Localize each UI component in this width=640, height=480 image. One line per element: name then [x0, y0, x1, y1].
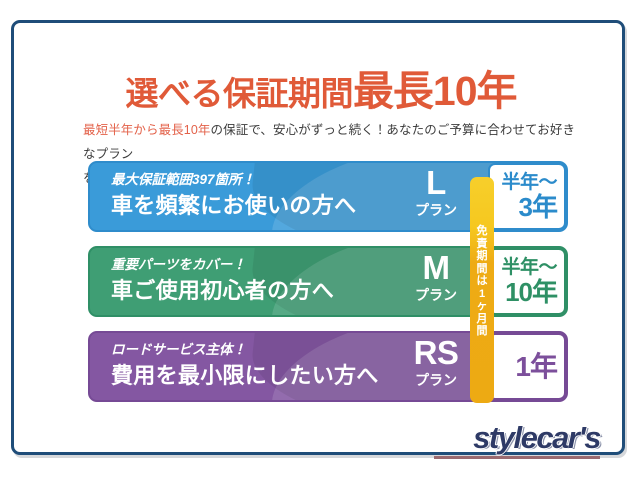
brand-logo-text: stylecar's — [430, 421, 600, 455]
plan-term-badge-rs: 1年 — [488, 333, 566, 400]
plan-headline-m: 車ご使用初心者の方へ — [111, 275, 334, 306]
page-title-part2: 最長10年 — [353, 68, 517, 114]
plan-tagline-l: 最大保証範囲397箇所！ — [111, 170, 356, 189]
plan-headline-l: 車を頻繁にお使いの方へ — [111, 190, 356, 221]
lead-highlight: 最短半年から最長10年 — [83, 123, 211, 137]
plan-suffix-l: プラン — [390, 201, 482, 219]
plan-copy-rs: ロードサービス主体！ 費用を最小限にしたい方へ — [111, 340, 379, 391]
plan-mark-m: M プラン — [390, 251, 482, 304]
brand-logo-underline — [434, 456, 600, 459]
deductible-char: 月 — [470, 313, 494, 326]
plan-term-line1-l: 半年〜 — [501, 172, 557, 194]
plan-tagline-m: 重要パーツをカバー！ — [111, 255, 334, 274]
deductible-char: は — [470, 275, 494, 288]
brand-logo: stylecar's — [430, 421, 600, 459]
deductible-char: 免 — [470, 225, 494, 238]
deductible-char: ヶ — [470, 300, 494, 313]
page-title: 選べる保証期間最長10年 — [14, 71, 628, 114]
plan-suffix-m: プラン — [390, 286, 482, 304]
deductible-char: 間 — [470, 263, 494, 276]
plan-term-line2-m: 10年 — [505, 279, 557, 306]
plan-row-l[interactable]: 最大保証範囲397箇所！ 車を頻繁にお使いの方へ L プラン 半年〜 3年 — [88, 161, 568, 232]
deductible-period-bar: 免責期間は1ヶ月間 — [470, 177, 494, 403]
plan-letter-m: M — [390, 251, 482, 284]
plan-term-line2-rs: 1年 — [515, 352, 557, 382]
deductible-char: 間 — [470, 325, 494, 338]
plan-list: 最大保証範囲397箇所！ 車を頻繁にお使いの方へ L プラン 半年〜 3年 — [88, 161, 568, 416]
plan-copy-m: 重要パーツをカバー！ 車ご使用初心者の方へ — [111, 255, 334, 306]
plan-mark-rs: RS プラン — [390, 336, 482, 389]
plan-tagline-rs: ロードサービス主体！ — [111, 340, 379, 359]
deductible-char: 期 — [470, 250, 494, 263]
page-title-part1: 選べる保証期間 — [125, 75, 353, 112]
plan-row-m[interactable]: 重要パーツをカバー！ 車ご使用初心者の方へ M プラン 半年〜 10年 — [88, 246, 568, 317]
deductible-char: 1 — [470, 288, 494, 301]
plan-copy-l: 最大保証範囲397箇所！ 車を頻繁にお使いの方へ — [111, 170, 356, 221]
plan-term-line2-l: 3年 — [519, 194, 557, 221]
deductible-char: 責 — [470, 238, 494, 251]
plan-letter-rs: RS — [390, 336, 482, 369]
plan-term-line1-m: 半年〜 — [501, 257, 557, 279]
plan-term-badge-m: 半年〜 10年 — [488, 248, 566, 315]
plan-suffix-rs: プラン — [390, 371, 482, 389]
plan-term-badge-l: 半年〜 3年 — [488, 163, 566, 230]
warranty-plan-poster: 選べる保証期間最長10年 最短半年から最長10年の保証で、安心がずっと続く！あな… — [0, 0, 640, 480]
plan-headline-rs: 費用を最小限にしたい方へ — [111, 360, 379, 391]
plan-row-rs[interactable]: ロードサービス主体！ 費用を最小限にしたい方へ RS プラン 1年 — [88, 331, 568, 402]
plan-mark-l: L プラン — [390, 166, 482, 219]
plan-letter-l: L — [390, 166, 482, 199]
poster-frame: 選べる保証期間最長10年 最短半年から最長10年の保証で、安心がずっと続く！あな… — [11, 20, 625, 455]
